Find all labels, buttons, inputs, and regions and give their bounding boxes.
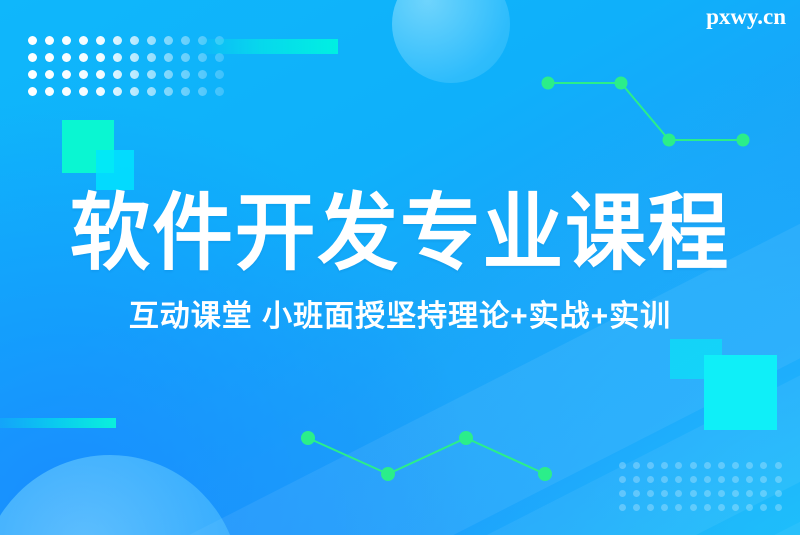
grid-dot (704, 504, 711, 511)
grid-dot (647, 504, 654, 511)
page-title: 软件开发专业课程 (16, 186, 784, 280)
grid-dot (718, 504, 725, 511)
grid-dot (746, 476, 753, 483)
grid-dot (164, 70, 173, 79)
grid-dot (732, 462, 739, 469)
grid-dot (28, 53, 37, 62)
grid-dot (215, 87, 224, 96)
grid-dot (675, 490, 682, 497)
grid-dot (633, 490, 640, 497)
grid-dot (181, 70, 190, 79)
grid-dot (113, 53, 122, 62)
grid-dot (704, 490, 711, 497)
grid-dot (215, 70, 224, 79)
grid-dot (775, 504, 782, 511)
grid-dot (633, 462, 640, 469)
grid-dot (746, 504, 753, 511)
grid-dot (45, 36, 54, 45)
grid-dot (113, 87, 122, 96)
cyan-bar-bottom (0, 418, 116, 428)
grid-dot (96, 36, 105, 45)
grid-dot (704, 462, 711, 469)
grid-dot (647, 490, 654, 497)
grid-dot (147, 70, 156, 79)
grid-dot (79, 36, 88, 45)
grid-dot (760, 504, 767, 511)
headline-block: 软件开发专业课程 互动课堂 小班面授坚持理论+实战+实训 (0, 186, 800, 336)
grid-dot (113, 70, 122, 79)
grid-dot (62, 53, 71, 62)
grid-dot (79, 70, 88, 79)
grid-dot (718, 490, 725, 497)
grid-dot (718, 476, 725, 483)
grid-dot (690, 490, 697, 497)
grid-dot (96, 53, 105, 62)
grid-dot (775, 490, 782, 497)
grid-dot (181, 36, 190, 45)
grid-dot (130, 87, 139, 96)
grid-dot (718, 462, 725, 469)
grid-dot (79, 87, 88, 96)
grid-dot (690, 476, 697, 483)
grid-dot (633, 476, 640, 483)
grid-dot (198, 87, 207, 96)
grid-dot (147, 87, 156, 96)
grid-dot (760, 462, 767, 469)
page-subtitle: 互动课堂 小班面授坚持理论+实战+实训 (0, 298, 800, 336)
grid-dot (760, 490, 767, 497)
grid-dot (661, 504, 668, 511)
grid-dot (181, 53, 190, 62)
grid-dot (96, 87, 105, 96)
grid-dot (775, 476, 782, 483)
grid-dot (647, 462, 654, 469)
grid-dot (619, 490, 626, 497)
grid-dot (619, 476, 626, 483)
grid-dot (147, 53, 156, 62)
course-banner: 软件开发专业课程 互动课堂 小班面授坚持理论+实战+实训 pxwy.cn (0, 0, 800, 535)
grid-dot (675, 462, 682, 469)
grid-dot (704, 476, 711, 483)
cyan-bar-top (196, 39, 338, 54)
grid-dot (760, 476, 767, 483)
grid-dot (619, 504, 626, 511)
grid-dot (690, 504, 697, 511)
grid-dot (732, 504, 739, 511)
grid-dot (198, 53, 207, 62)
grid-dot (732, 490, 739, 497)
grid-dot (746, 462, 753, 469)
watermark: pxwy.cn (706, 4, 786, 30)
grid-dot (661, 476, 668, 483)
grid-dot (45, 87, 54, 96)
grid-dot (661, 462, 668, 469)
square-top-left-front (96, 150, 134, 190)
grid-dot (62, 36, 71, 45)
grid-dot (675, 476, 682, 483)
grid-dot (215, 53, 224, 62)
grid-dot (164, 36, 173, 45)
grid-dot (130, 36, 139, 45)
grid-dot (633, 504, 640, 511)
grid-dot (96, 70, 105, 79)
grid-dot (164, 53, 173, 62)
grid-dot (130, 53, 139, 62)
grid-dot (147, 36, 156, 45)
grid-dot (775, 462, 782, 469)
grid-dot (28, 36, 37, 45)
grid-dot (746, 490, 753, 497)
grid-dot (45, 70, 54, 79)
grid-dot (647, 476, 654, 483)
grid-dot (732, 476, 739, 483)
square-bottom-right-front (704, 355, 777, 430)
grid-dot (690, 462, 697, 469)
grid-dot (619, 462, 626, 469)
grid-dot (62, 70, 71, 79)
grid-dot (130, 70, 139, 79)
grid-dot (28, 87, 37, 96)
grid-dot (28, 70, 37, 79)
grid-dot (62, 87, 71, 96)
grid-dot (45, 53, 54, 62)
dot-grid-bottom-right (615, 458, 785, 515)
grid-dot (675, 504, 682, 511)
grid-dot (79, 53, 88, 62)
grid-dot (113, 36, 122, 45)
grid-dot (181, 87, 190, 96)
grid-dot (198, 70, 207, 79)
grid-dot (164, 87, 173, 96)
grid-dot (661, 490, 668, 497)
